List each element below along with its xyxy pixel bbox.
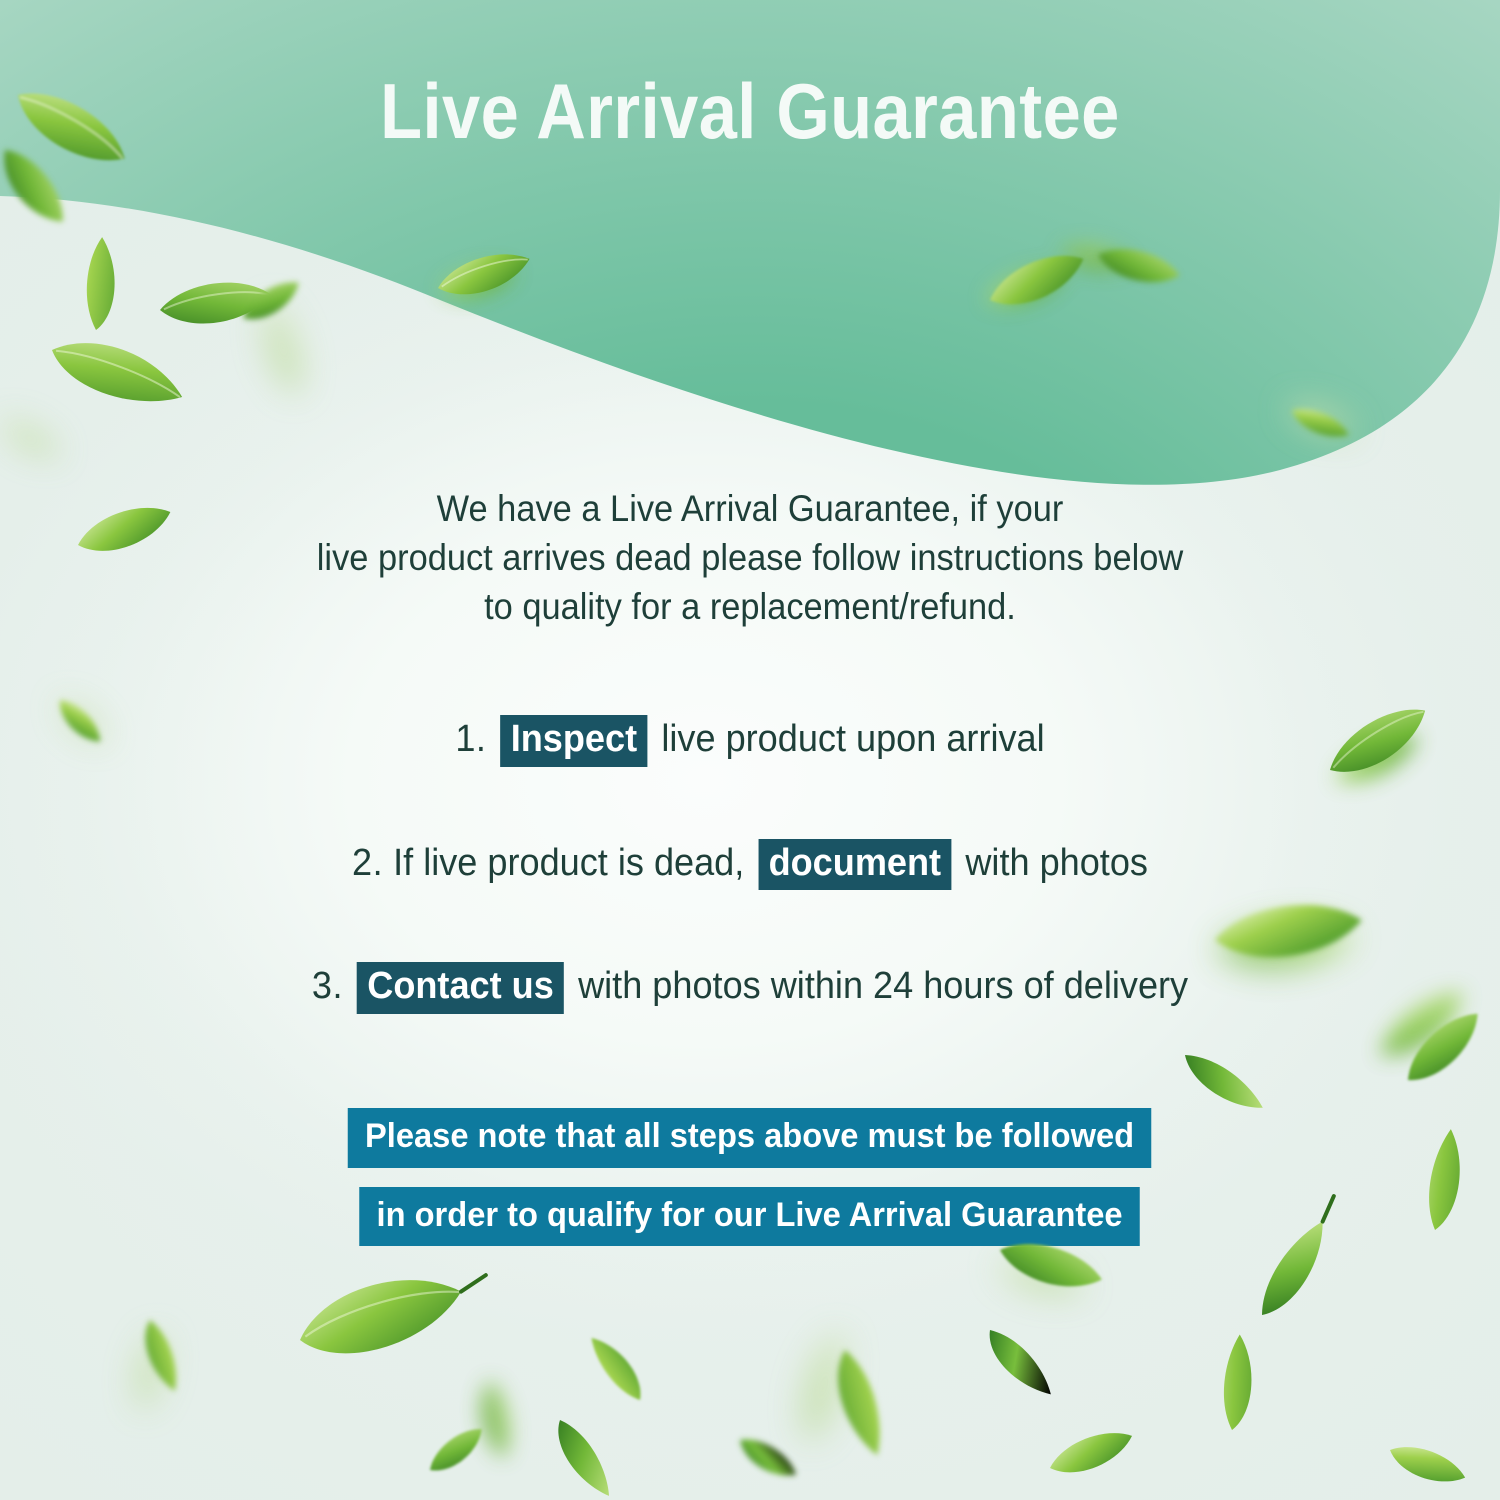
intro-line-1: We have a Live Arrival Guarantee, if you… (192, 485, 1308, 534)
step-3-number: 3. (312, 965, 343, 1007)
step-item-2: 2. If live product is dead, document wit… (38, 839, 1463, 891)
intro-line-3: to quality for a replacement/refund. (192, 583, 1308, 632)
step-3-text-after: with photos within 24 hours of delivery (578, 965, 1188, 1007)
note-block: Please note that all steps above must be… (0, 1108, 1500, 1246)
intro-paragraph: We have a Live Arrival Guarantee, if you… (192, 485, 1308, 631)
intro-line-2: live product arrives dead please follow … (192, 534, 1308, 583)
step-1-number: 1. (455, 718, 486, 760)
note-line-2: in order to qualify for our Live Arrival… (360, 1187, 1141, 1247)
step-item-3: 3. Contact us with photos within 24 hour… (38, 962, 1463, 1014)
step-item-1: 1. Inspect live product upon arrival (38, 715, 1463, 767)
step-2-text-after: with photos (965, 842, 1148, 884)
step-1-highlight: Inspect (500, 715, 647, 767)
poster-content: We have a Live Arrival Guarantee, if you… (0, 0, 1500, 1500)
live-arrival-guarantee-poster: Live Arrival Guarantee We have a Live Ar… (0, 0, 1500, 1500)
note-spacer (0, 1168, 1500, 1187)
step-3-highlight: Contact us (357, 962, 564, 1014)
note-line-1: Please note that all steps above must be… (348, 1108, 1152, 1168)
step-1-text-after: live product upon arrival (661, 718, 1044, 760)
steps-list: 1. Inspect live product upon arrival 2. … (0, 700, 1500, 1014)
step-2-number: 2. (352, 842, 383, 884)
step-2-highlight: document (758, 839, 951, 891)
step-2-text-before: If live product is dead, (393, 842, 744, 884)
